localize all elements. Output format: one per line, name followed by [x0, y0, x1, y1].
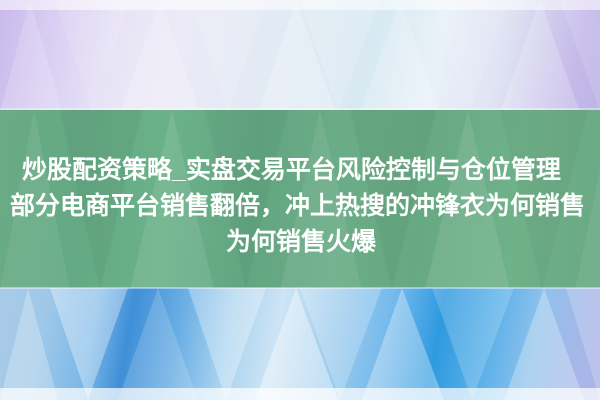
- title-line-2: 部分电商平台销售翻倍，冲上热搜的冲锋衣为何销售: [0, 188, 600, 224]
- facet-overlay-bottom: [0, 288, 600, 400]
- background-band-bottom: [0, 288, 600, 400]
- facet-shapes-bottom-icon: [0, 288, 600, 400]
- facet-overlay-top: [0, 0, 600, 112]
- background-band-top: [0, 0, 600, 112]
- banner-image: 炒股配资策略_实盘交易平台风险控制与仓位管理 部分电商平台销售翻倍，冲上热搜的冲…: [0, 0, 600, 400]
- title-line-1: 炒股配资策略_实盘交易平台风险控制与仓位管理: [0, 152, 600, 188]
- banner-title: 炒股配资策略_实盘交易平台风险控制与仓位管理 部分电商平台销售翻倍，冲上热搜的冲…: [0, 152, 600, 260]
- band-divider-top: [0, 108, 600, 110]
- facet-shapes-top-icon: [0, 0, 600, 112]
- band-divider-bottom: [0, 287, 600, 289]
- title-line-3: 为何销售火爆: [0, 224, 600, 260]
